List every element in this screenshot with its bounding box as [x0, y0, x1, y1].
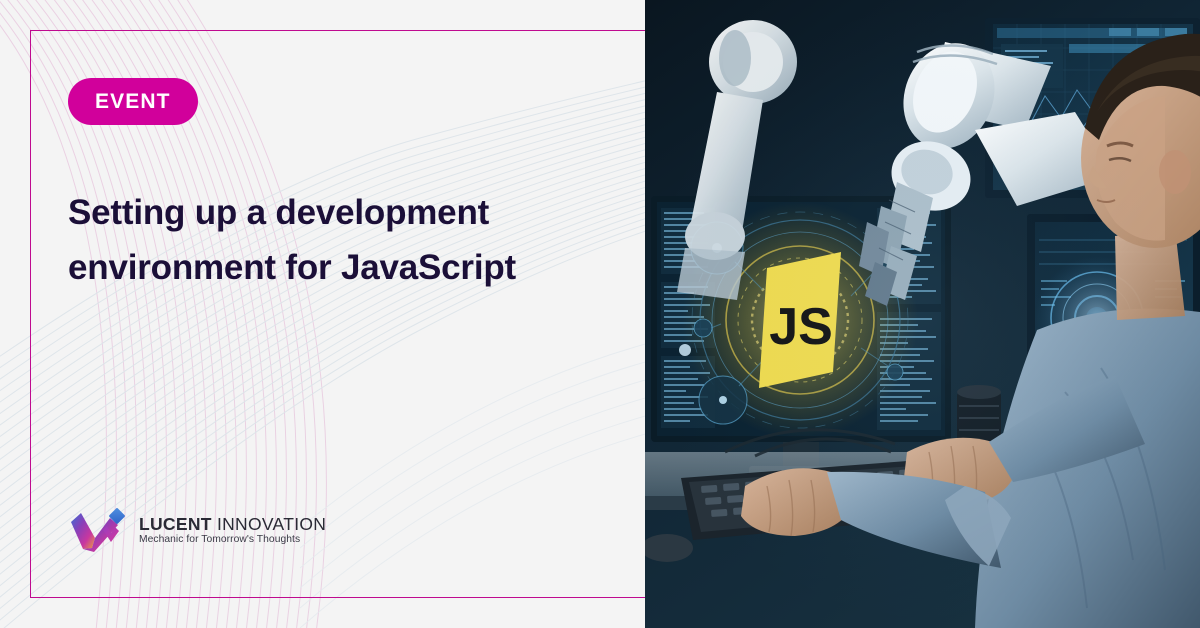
event-badge: EVENT — [68, 78, 198, 125]
logo-name-bold: LUCENT — [139, 514, 212, 534]
logo-company-name: LUCENT INNOVATION — [139, 516, 326, 534]
hero-photo: JS — [645, 0, 1200, 628]
logo-tagline: Mechanic for Tomorrow's Thoughts — [139, 535, 326, 545]
hero-photo-illustration: JS — [645, 0, 1200, 628]
left-content-panel: EVENT Setting up a development environme… — [0, 0, 648, 628]
event-banner: EVENT Setting up a development environme… — [0, 0, 1200, 628]
page-title: Setting up a development environment for… — [68, 186, 598, 295]
brand-logo: LUCENT INNOVATION Mechanic for Tomorrow'… — [70, 508, 326, 553]
logo-text-block: LUCENT INNOVATION Mechanic for Tomorrow'… — [139, 516, 326, 546]
logo-name-light: INNOVATION — [217, 514, 326, 534]
lucent-checkmark-icon — [70, 508, 128, 553]
